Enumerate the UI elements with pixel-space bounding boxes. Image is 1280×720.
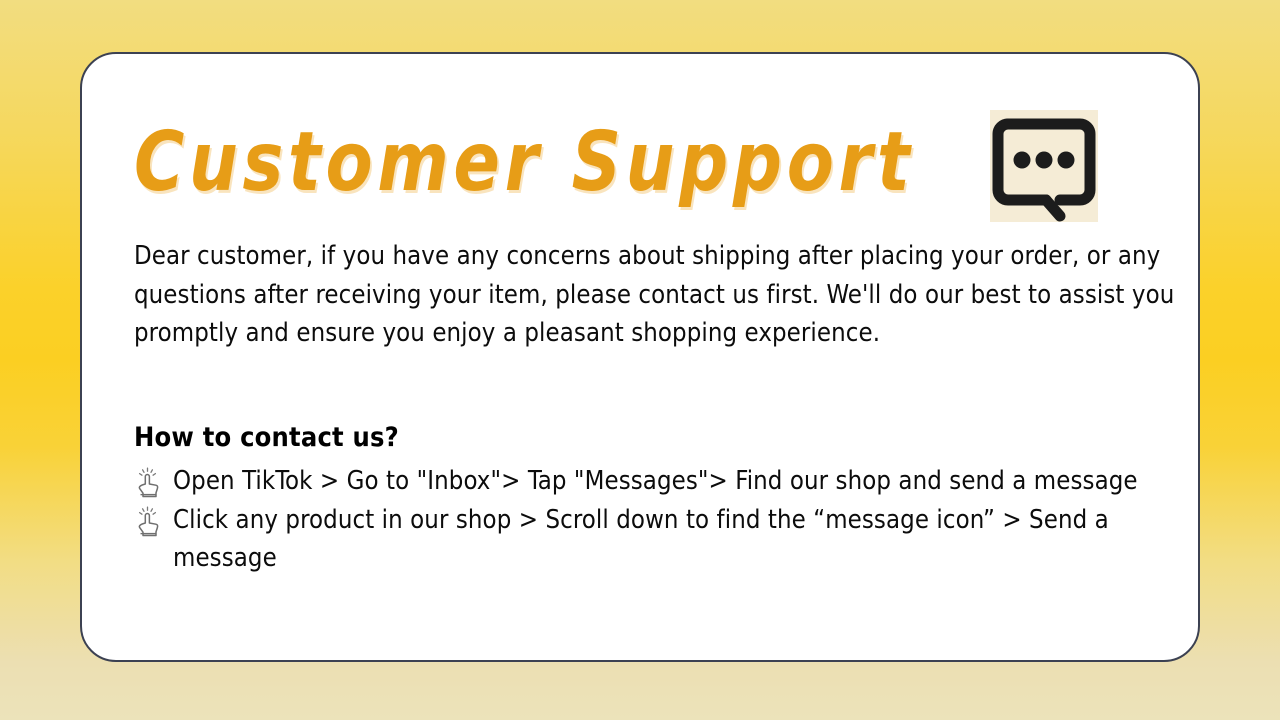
list-item: Open TikTok > Go to "Inbox"> Tap "Messag… <box>134 462 1189 501</box>
tap-hand-icon <box>134 467 164 499</box>
contact-steps-list: Open TikTok > Go to "Inbox"> Tap "Messag… <box>134 462 1189 578</box>
contact-heading: How to contact us? <box>134 422 399 453</box>
list-item-label: Click any product in our shop > Scroll d… <box>173 505 1109 574</box>
intro-paragraph: Dear customer, if you have any concerns … <box>134 237 1184 353</box>
chat-bubble-icon <box>990 110 1098 222</box>
list-item: Click any product in our shop > Scroll d… <box>134 501 1189 578</box>
tap-hand-icon <box>134 506 164 538</box>
list-item-label: Open TikTok > Go to "Inbox"> Tap "Messag… <box>173 466 1138 496</box>
customer-support-card: Customer Support Dear customer, if you h… <box>80 52 1200 662</box>
page-canvas: Customer Support Dear customer, if you h… <box>0 0 1280 720</box>
page-title: Customer Support <box>134 104 914 222</box>
